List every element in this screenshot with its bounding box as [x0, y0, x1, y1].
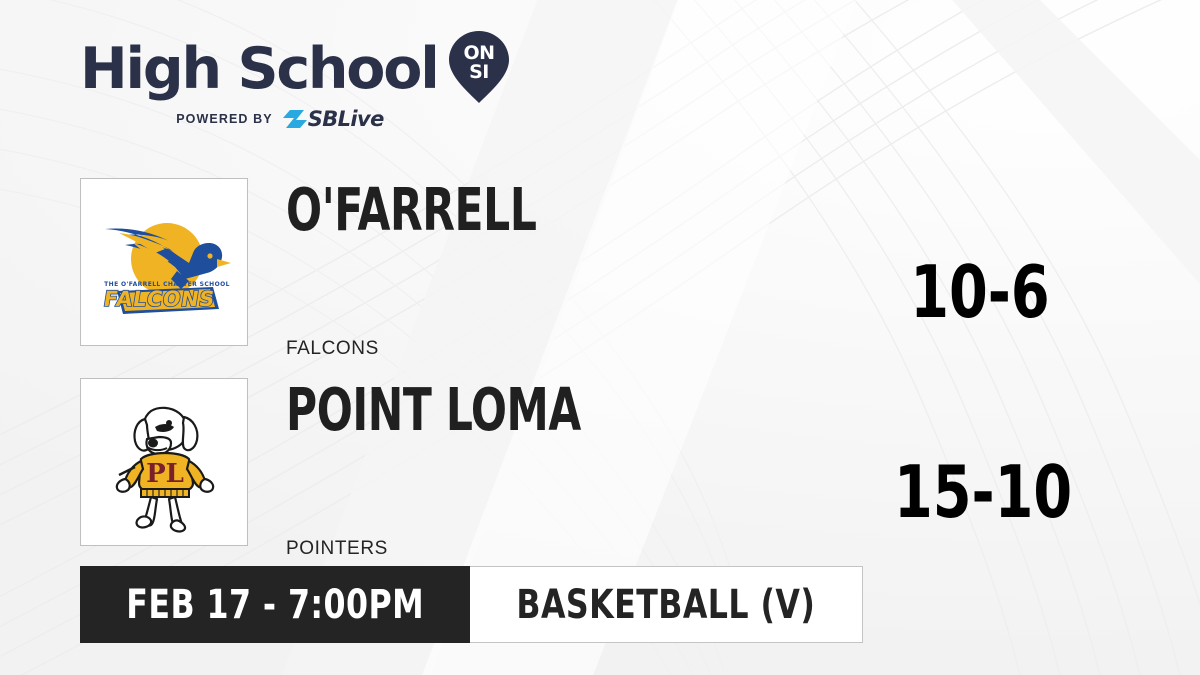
team-name-1: O'FARRELL: [286, 180, 537, 239]
team-mascot-1: FALCONS: [286, 338, 379, 360]
matchup-graphic: High School ON SI POWERED BY SBLive: [0, 0, 1200, 675]
point-loma-pointers-logo: PL: [89, 387, 239, 537]
svg-text:SI: SI: [469, 61, 489, 83]
pl-monogram: PL: [146, 459, 184, 489]
brand-header: High School ON SI POWERED BY SBLive: [80, 36, 520, 136]
team-name-2: POINT LOMA: [286, 380, 581, 439]
sblive-lightning-icon: [282, 109, 308, 129]
event-sport-text: BASKETBALL (V): [517, 585, 816, 625]
powered-by-row: POWERED BY SBLive: [80, 109, 480, 129]
falcons-wordmark: FALCONS: [102, 286, 217, 311]
brand-row: High School ON SI: [80, 36, 520, 102]
event-datetime-text: FEB 17 - 7:00PM: [126, 585, 424, 625]
team-logo-box-1: THE O'FARRELL CHARTER SCHOOL FALCONS: [80, 178, 248, 346]
event-info-bar: FEB 17 - 7:00PM BASKETBALL (V): [80, 566, 863, 643]
team-logo-box-2: PL: [80, 378, 248, 546]
powered-by-label: POWERED BY: [176, 112, 272, 126]
event-sport-block: BASKETBALL (V): [470, 566, 863, 643]
onsi-pin-icon: ON SI: [448, 30, 510, 104]
sblive-wordmark: SBLive: [308, 109, 384, 130]
brand-wordmark: High School: [80, 41, 438, 98]
team-record-1: 10-6: [894, 256, 1066, 328]
team-mascot-2: POINTERS: [286, 538, 388, 560]
sblive-logo: SBLive: [282, 109, 384, 130]
team-record-2: 15-10: [894, 456, 1066, 528]
event-datetime-block: FEB 17 - 7:00PM: [80, 566, 470, 643]
ofarrell-falcons-logo: THE O'FARRELL CHARTER SCHOOL FALCONS: [89, 187, 239, 337]
